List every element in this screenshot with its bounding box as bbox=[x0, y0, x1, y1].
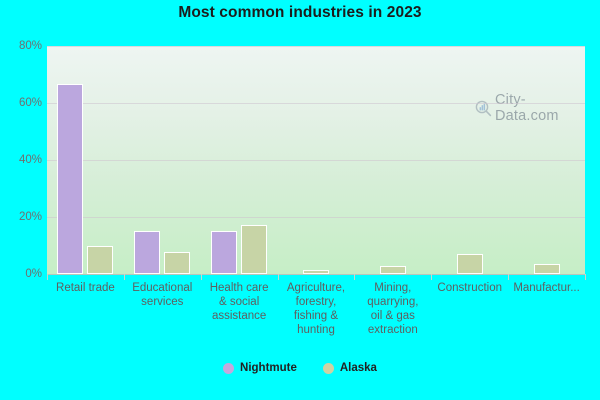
legend-label: Nightmute bbox=[240, 362, 297, 374]
legend-label: Alaska bbox=[340, 362, 377, 374]
legend-item[interactable]: Alaska bbox=[323, 362, 377, 374]
bar-group bbox=[431, 46, 508, 274]
bar-nightmute[interactable] bbox=[57, 84, 83, 274]
x-axis-label: Educational services bbox=[124, 281, 201, 309]
chart-container: Most common industries in 2023 0%20%40%6… bbox=[0, 0, 600, 400]
y-axis-tick-label: 20% bbox=[2, 211, 42, 223]
x-axis-label: Retail trade bbox=[47, 281, 124, 295]
bar-group bbox=[124, 46, 201, 274]
x-axis-tick bbox=[201, 274, 202, 280]
bar-alaska[interactable] bbox=[164, 252, 190, 274]
bar-group bbox=[47, 46, 124, 274]
bar-alaska[interactable] bbox=[87, 246, 113, 274]
chart-legend: NightmuteAlaska bbox=[0, 362, 600, 374]
bar-nightmute[interactable] bbox=[211, 231, 237, 274]
x-axis-tick bbox=[124, 274, 125, 280]
x-axis-tick bbox=[431, 274, 432, 280]
y-axis-tick-label: 0% bbox=[2, 268, 42, 280]
x-axis-label: Agriculture, forestry, fishing & hunting bbox=[278, 281, 355, 337]
bar-alaska[interactable] bbox=[534, 264, 560, 274]
bar-group bbox=[201, 46, 278, 274]
legend-swatch-icon bbox=[223, 363, 234, 374]
x-axis-label: Manufactur... bbox=[508, 281, 585, 295]
x-axis-tick bbox=[585, 274, 586, 280]
y-axis-tick-label: 80% bbox=[2, 40, 42, 52]
bar-group bbox=[278, 46, 355, 274]
y-axis-tick-label: 40% bbox=[2, 154, 42, 166]
x-axis-label: Construction bbox=[431, 281, 508, 295]
bar-alaska[interactable] bbox=[380, 266, 406, 274]
x-axis-line bbox=[47, 274, 585, 275]
x-axis-label: Health care & social assistance bbox=[201, 281, 278, 323]
x-axis-tick bbox=[47, 274, 48, 280]
legend-item[interactable]: Nightmute bbox=[223, 362, 297, 374]
x-axis-tick bbox=[354, 274, 355, 280]
x-axis-tick bbox=[508, 274, 509, 280]
x-axis-tick bbox=[278, 274, 279, 280]
bar-alaska[interactable] bbox=[457, 254, 483, 274]
bar-alaska[interactable] bbox=[241, 225, 267, 274]
legend-swatch-icon bbox=[323, 363, 334, 374]
x-axis-label: Mining, quarrying, oil & gas extraction bbox=[354, 281, 431, 337]
bar-group bbox=[508, 46, 585, 274]
bar-nightmute[interactable] bbox=[134, 231, 160, 274]
bar-group bbox=[354, 46, 431, 274]
y-axis-tick-label: 60% bbox=[2, 97, 42, 109]
bar-groups bbox=[47, 46, 585, 274]
